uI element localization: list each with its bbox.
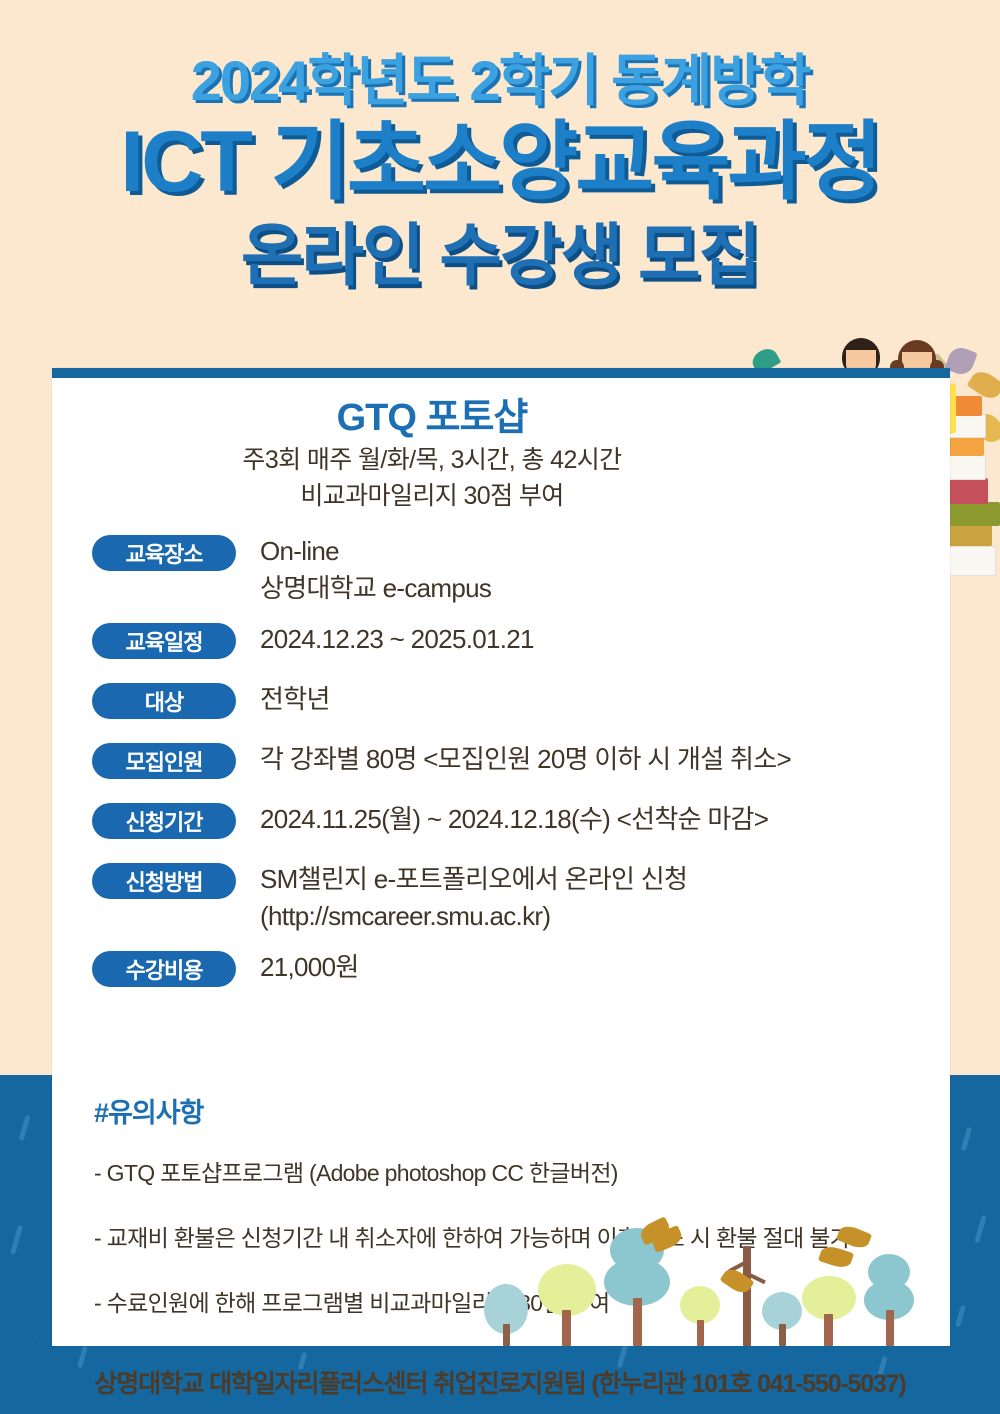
forest-tree-yellow	[802, 1276, 856, 1346]
info-row: 수강비용 21,000원	[92, 949, 922, 995]
forest-tree	[484, 1284, 528, 1346]
info-row: 교육일정 2024.12.23 ~ 2025.01.21	[92, 621, 922, 667]
info-row-value: 2024.12.23 ~ 2025.01.21	[260, 621, 922, 658]
info-row-value-line: 상명대학교 e-campus	[260, 570, 922, 607]
info-row: 대상 전학년	[92, 681, 922, 727]
info-row-label: 수강비용	[92, 951, 236, 987]
notice-heading: #유의사항	[94, 1091, 203, 1130]
info-row-value-line: 21,000원	[260, 949, 922, 986]
poster-root: 2024학년도 2학기 동계방학 ICT 기초소양교육과정 온라인 수강생 모집	[0, 0, 1000, 1414]
info-row-label: 모집인원	[92, 743, 236, 779]
info-row-label: 교육장소	[92, 535, 236, 571]
footer-contact: 상명대학교 대학일자리플러스센터 취업진로지원팀 (한누리관 101호 041-…	[0, 1364, 1000, 1400]
info-row-value-line: 2024.11.25(월) ~ 2024.12.18(수) <선착순 마감>	[260, 801, 922, 838]
forest-tree-yellow	[538, 1264, 596, 1346]
notice-item: - GTQ 포토샵프로그램 (Adobe photoshop CC 한글버전)	[94, 1154, 934, 1188]
forest-tree	[762, 1292, 802, 1346]
forest-illustration	[472, 1226, 950, 1346]
info-row-value-line: 2024.12.23 ~ 2025.01.21	[260, 621, 922, 658]
course-subtitle-line-2: 비교과마일리지 30점 부여	[52, 479, 812, 515]
info-row-value: 각 강좌별 80명 <모집인원 20명 이하 시 개설 취소>	[260, 741, 922, 778]
info-row-value-line: SM챌린지 e-포트폴리오에서 온라인 신청	[260, 861, 922, 898]
title-line-1: 2024학년도 2학기 동계방학	[0, 52, 1000, 111]
info-row-value: On-line 상명대학교 e-campus	[260, 533, 922, 607]
info-row-label: 신청기간	[92, 803, 236, 839]
info-row-value: 전학년	[260, 681, 922, 718]
course-name: GTQ 포토샵	[52, 386, 812, 441]
card-top-accent-bar	[52, 368, 950, 378]
info-row: 신청방법 SM챌린지 e-포트폴리오에서 온라인 신청 (http://smca…	[92, 861, 922, 935]
info-row: 모집인원 각 강좌별 80명 <모집인원 20명 이하 시 개설 취소>	[92, 741, 922, 787]
info-row-value: 21,000원	[260, 949, 922, 986]
course-subtitle: 주3회 매주 월/화/목, 3시간, 총 42시간 비교과마일리지 30점 부여	[52, 443, 812, 514]
info-row-value-line: 전학년	[260, 681, 922, 718]
info-row: 신청기간 2024.11.25(월) ~ 2024.12.18(수) <선착순 …	[92, 801, 922, 847]
info-row-label: 교육일정	[92, 623, 236, 659]
info-row-value: 2024.11.25(월) ~ 2024.12.18(수) <선착순 마감>	[260, 801, 922, 838]
forest-tree-bare	[726, 1246, 766, 1346]
forest-tree-yellow	[680, 1286, 720, 1346]
falling-leaf-icon	[818, 1243, 854, 1270]
info-row-value-line: On-line	[260, 533, 922, 570]
application-url[interactable]: (http://smcareer.smu.ac.kr)	[260, 898, 922, 935]
poster-title-block: 2024학년도 2학기 동계방학 ICT 기초소양교육과정 온라인 수강생 모집	[0, 0, 1000, 292]
course-subtitle-line-1: 주3회 매주 월/화/목, 3시간, 총 42시간	[52, 443, 812, 479]
info-row-label: 신청방법	[92, 863, 236, 899]
content-card: GTQ 포토샵 주3회 매주 월/화/목, 3시간, 총 42시간 비교과마일리…	[52, 368, 950, 1346]
info-row-value: SM챌린지 e-포트폴리오에서 온라인 신청 (http://smcareer.…	[260, 861, 922, 935]
info-row-value-line: 각 강좌별 80명 <모집인원 20명 이하 시 개설 취소>	[260, 741, 922, 778]
title-line-2: ICT 기초소양교육과정	[0, 119, 1000, 207]
forest-tree	[864, 1254, 914, 1346]
title-line-3: 온라인 수강생 모집	[0, 221, 1000, 292]
info-row-label: 대상	[92, 683, 236, 719]
info-row: 교육장소 On-line 상명대학교 e-campus	[92, 533, 922, 607]
info-row-list: 교육장소 On-line 상명대학교 e-campus 교육일정 2024.12…	[92, 533, 922, 1009]
